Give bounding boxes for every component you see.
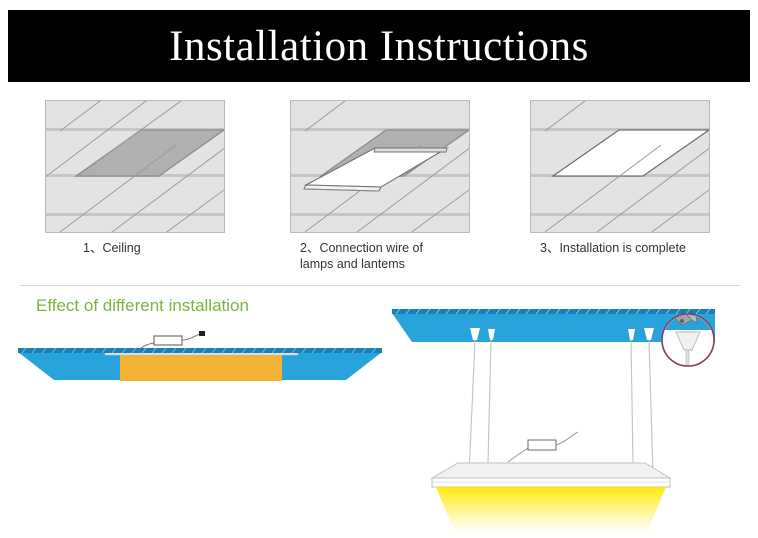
- page-title: Installation Instructions: [8, 10, 750, 82]
- ceiling-grid-empty-icon: [45, 100, 225, 233]
- installation-instructions-page: Installation Instructions: [0, 0, 758, 538]
- effect-section-heading: Effect of different installation: [36, 296, 249, 316]
- header-bar: Installation Instructions: [8, 10, 750, 82]
- light-glow: [436, 487, 666, 535]
- step-3-caption: 3、Installation is complete: [530, 240, 710, 256]
- step-2-caption: 2、Connection wire of lamps and lantems: [290, 240, 470, 272]
- recessed-installation-diagram: [10, 330, 390, 410]
- step-1-caption: 1、Ceiling: [45, 240, 225, 256]
- driver-box-icon: [508, 432, 578, 462]
- suspended-light-panel: [432, 463, 670, 487]
- suspended-installation-diagram: [370, 300, 730, 535]
- panel-insertion-icon: [290, 100, 470, 233]
- section-divider: [20, 285, 740, 286]
- panel-installed-icon: [530, 100, 710, 233]
- suspension-wire: [469, 340, 653, 475]
